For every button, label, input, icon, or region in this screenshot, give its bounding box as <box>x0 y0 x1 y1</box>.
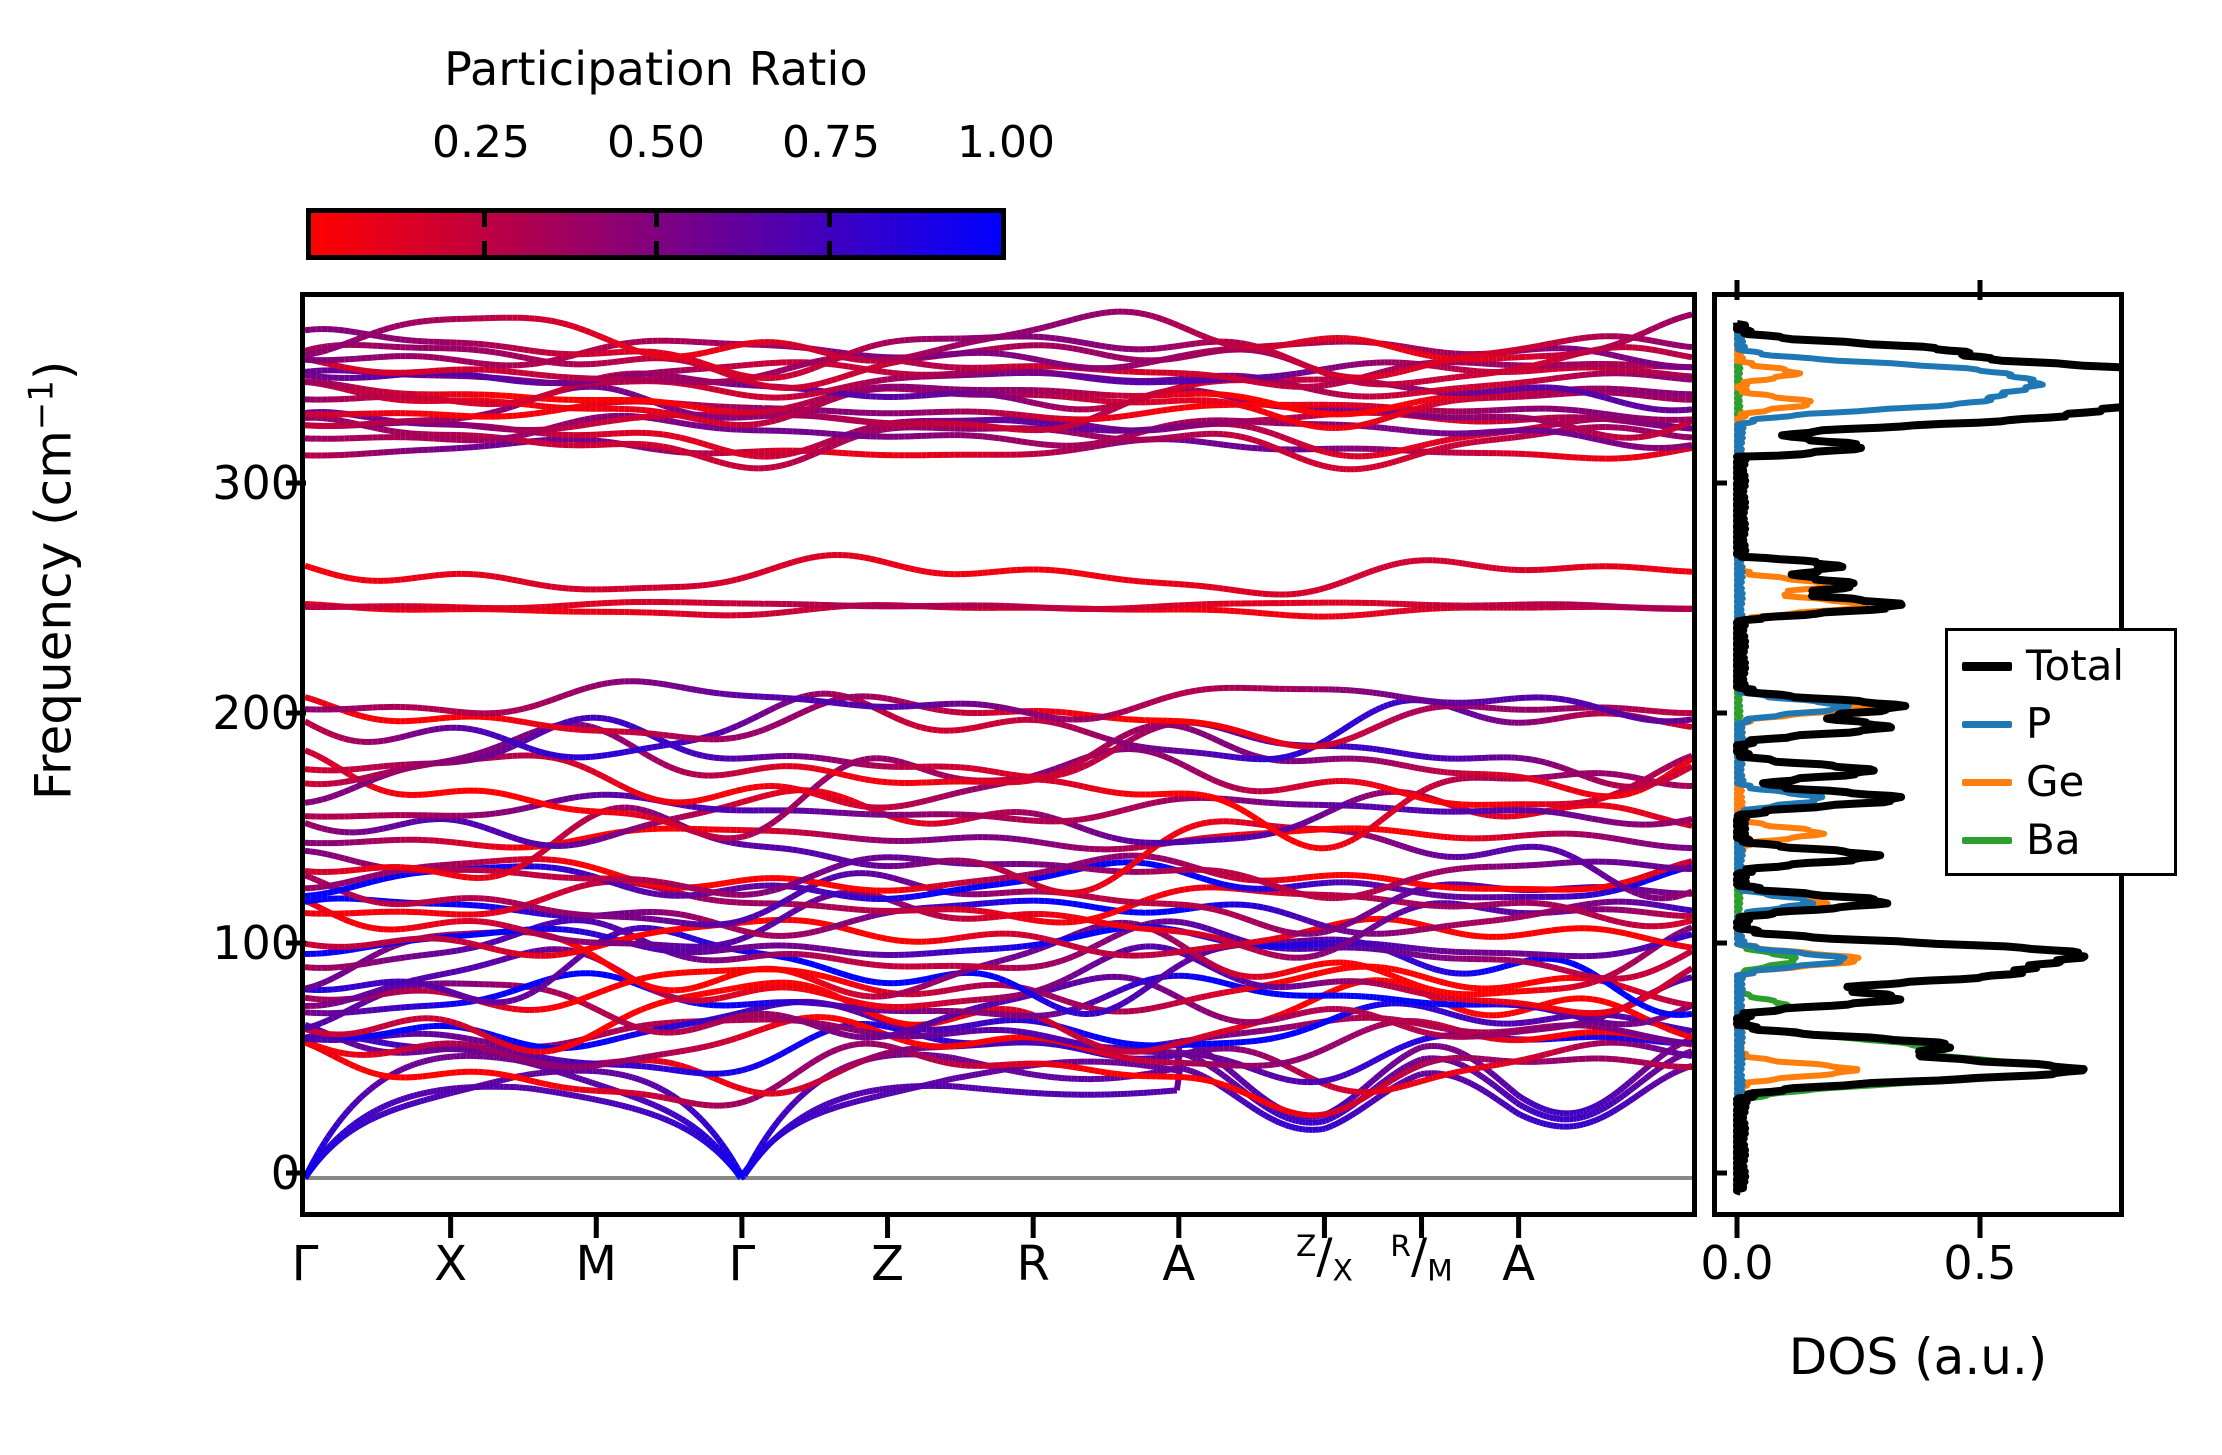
x-tick-label-6: A <box>1162 1236 1195 1292</box>
legend-label: Ge <box>2026 761 2084 803</box>
legend-label: P <box>2026 703 2051 745</box>
legend-item-ge: Ge <box>1948 753 2174 811</box>
x-tick-label-7: Z/X <box>1296 1228 1353 1286</box>
dos-x-tick-marks <box>1712 1212 2124 1242</box>
dos-x-tick-marks-top <box>1712 280 2124 310</box>
legend-label: Total <box>2026 645 2124 687</box>
dos-x-axis-label: DOS (a.u.) <box>1712 1328 2124 1386</box>
x-tick-label-3: Γ <box>729 1236 756 1292</box>
legend-swatch-p <box>1962 721 2012 728</box>
legend-item-total: Total <box>1948 637 2174 695</box>
x-tick-label-4: Z <box>871 1236 904 1292</box>
legend-swatch-ge <box>1962 779 2012 786</box>
dos-x-tick-label: 0.5 <box>1943 1236 2016 1290</box>
legend-item-p: P <box>1948 695 2174 753</box>
x-tick-label-8: R/M <box>1390 1228 1453 1286</box>
x-tick-label-1: X <box>434 1236 467 1292</box>
legend-swatch-total <box>1962 662 2012 671</box>
dos-y-tick-marks <box>1697 292 1727 1217</box>
legend-item-ba: Ba <box>1948 811 2174 869</box>
legend-label: Ba <box>2026 819 2081 861</box>
x-tick-label-0: Γ <box>292 1236 319 1292</box>
dos-legend: Total P Ge Ba <box>1945 628 2177 876</box>
x-tick-label-9: A <box>1502 1236 1535 1292</box>
legend-swatch-ba <box>1962 837 2012 844</box>
dos-x-tick-label: 0.0 <box>1700 1236 1773 1290</box>
x-tick-label-5: R <box>1016 1236 1049 1292</box>
x-tick-label-2: M <box>576 1236 617 1292</box>
